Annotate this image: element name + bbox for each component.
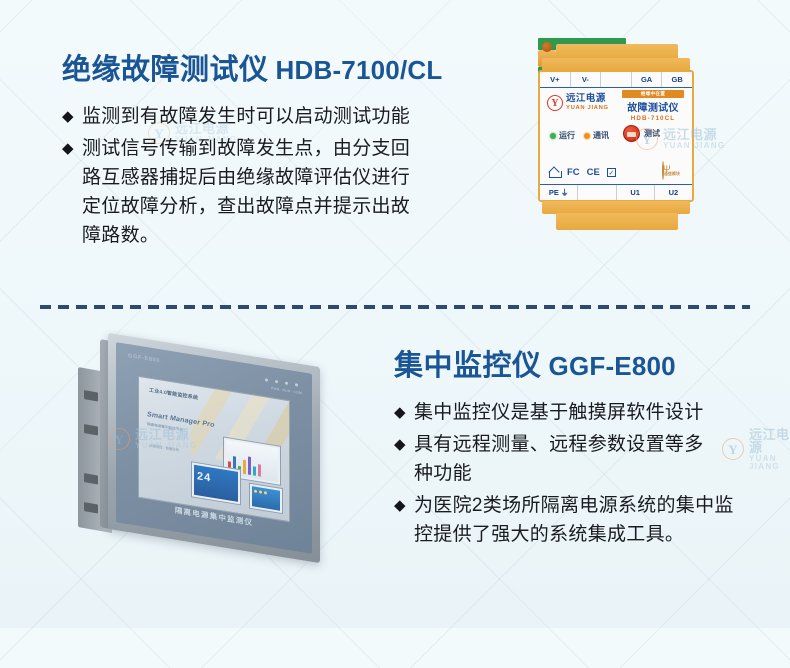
terminal-label-row-bottom: PE ⏚ U1 U2 xyxy=(540,184,692,200)
bullet-line: 具有远程测量、远程参数设置等多 xyxy=(414,430,704,459)
panel-port xyxy=(84,473,98,484)
test-button-label: 测试 xyxy=(644,128,660,139)
panel-lcd-screen[interactable]: 工业4.0智能监控系统 Smart Manager Pro 隔离电源集中监控平台… xyxy=(138,376,290,523)
brand-name-en: YUAN JIANG xyxy=(566,104,609,112)
bullet-line: 为医院2类场所隔离电源系统的集中监 xyxy=(414,491,734,520)
led-label: 运行 xyxy=(559,130,575,141)
terminal-label: GA xyxy=(632,72,663,87)
panel-led-labels: PWR RUN COM xyxy=(271,386,302,395)
section-central-monitor: 集中监控仪GGF-E800 ◆ 集中监控仪是基于触摸屏软件设计 ◆ 具有远程测量… xyxy=(394,342,774,552)
bullet-item: ◆ 监测到有故障发生时可以启动测试功能 xyxy=(62,102,492,131)
led-dot-icon xyxy=(275,380,278,383)
device-title-cn: 故障测试仪 xyxy=(622,99,684,114)
bullet-item: ◆ 具有远程测量、远程参数设置等多 种功能 xyxy=(394,430,774,488)
bullet-text: 监测到有故障发生时可以启动测试功能 xyxy=(82,102,410,131)
lcd-monitor-small xyxy=(249,483,283,515)
device-model-number: HDB-710CL xyxy=(622,115,684,122)
bullet-line: 种功能 xyxy=(414,459,704,488)
bullet-line: 集中监控仪是基于触摸屏软件设计 xyxy=(414,398,704,427)
brand-y-logo-icon xyxy=(547,95,563,111)
panel-model-label: GGF-E800 xyxy=(128,353,160,364)
device-title-block: 绝缘中在置 故障测试仪 HDB-710CL xyxy=(622,90,684,122)
push-button-icon[interactable] xyxy=(623,125,640,142)
panel-status-leds xyxy=(265,378,298,386)
brand-name-cn: 远江电源 xyxy=(566,94,609,104)
certification-marks: FC CE xyxy=(549,167,616,178)
bullet-line: 监测到有故障发生时可以启动测试功能 xyxy=(82,102,410,131)
product-feature-page: 绝缘故障测试仪HDB-7100/CL ◆ 监测到有故障发生时可以启动测试功能 ◆… xyxy=(0,0,790,628)
lcd-note: 远程测控 · 数据分析 xyxy=(149,442,179,452)
home-icon xyxy=(549,168,560,177)
led-dot-icon xyxy=(265,378,268,381)
section-1-bullet-list: ◆ 监测到有故障发生时可以启动测试功能 ◆ 测试信号传输到故障发生点，由分支回 … xyxy=(62,102,492,250)
bullet-line: 定位故障分析，查出故障点并提示出故 xyxy=(82,192,410,221)
check-box-icon xyxy=(607,168,616,177)
monitor-value: 24 xyxy=(197,470,211,484)
device-image-central-monitor: GGF-E800 PWR RUN COM 工业4.0智能监控系统 Smart M… xyxy=(78,342,348,572)
section-2-heading-model: GGF-E800 xyxy=(549,351,676,381)
antenna-icon xyxy=(662,161,664,180)
bullet-line: 路互感器捕捉后由绝缘故障评估仪进行 xyxy=(82,163,410,192)
bullet-item: ◆ 测试信号传输到故障发生点，由分支回 路互感器捕捉后由绝缘故障评估仪进行 定位… xyxy=(62,134,492,250)
monitor-bar xyxy=(243,460,246,474)
terminal-label: GB xyxy=(662,72,692,87)
section-1-heading-model: HDB-7100/CL xyxy=(276,55,443,85)
led-run: 运行 xyxy=(550,130,575,141)
bullet-text: 集中监控仪是基于触摸屏软件设计 xyxy=(414,398,704,427)
led-dot-icon xyxy=(550,133,556,139)
terminal-label: V+ xyxy=(540,72,571,87)
terminal-label: V- xyxy=(571,72,602,87)
led-dot-icon xyxy=(295,383,298,386)
led-label: 通讯 xyxy=(593,130,609,141)
led-label: RUN xyxy=(283,388,291,393)
fcc-mark-label: FC xyxy=(567,167,580,178)
bullet-item: ◆ 集中监控仪是基于触摸屏软件设计 xyxy=(394,398,774,427)
device-image-insulation-fault-tester: V+ V- GA GB 远江电源 YUAN JIANG 绝缘中在置 故障测试仪 … xyxy=(538,38,738,258)
section-2-heading-cn: 集中监控仪 xyxy=(394,350,542,382)
bullet-text: 具有远程测量、远程参数设置等多 种功能 xyxy=(414,430,704,488)
diamond-bullet-icon: ◆ xyxy=(394,398,413,427)
panel-face: GGF-E800 PWR RUN COM 工业4.0智能监控系统 Smart M… xyxy=(116,342,312,554)
terminal-label xyxy=(578,185,616,200)
lcd-subtitle: 隔离电源集中监控平台 xyxy=(147,422,183,433)
diamond-bullet-icon: ◆ xyxy=(62,134,81,163)
section-insulation-fault-tester: 绝缘故障测试仪HDB-7100/CL ◆ 监测到有故障发生时可以启动测试功能 ◆… xyxy=(62,46,492,253)
bullet-line: 控提供了强大的系统集成工具。 xyxy=(414,520,734,549)
terminal-label: U1 xyxy=(617,185,655,200)
led-dot-icon xyxy=(584,133,590,139)
terminal-label: U2 xyxy=(655,185,692,200)
lcd-monitor-medium: 24 xyxy=(191,461,241,505)
led-comm: 通讯 xyxy=(584,130,609,141)
section-1-heading-cn: 绝缘故障测试仪 xyxy=(62,54,269,86)
diamond-bullet-icon: ◆ xyxy=(394,491,413,520)
section-2-bullet-list: ◆ 集中监控仪是基于触摸屏软件设计 ◆ 具有远程测量、远程参数设置等多 种功能 … xyxy=(394,398,774,549)
dashed-section-divider xyxy=(40,305,750,309)
monitor-bar xyxy=(253,466,256,475)
terminal-label-row-top: V+ V- GA GB xyxy=(540,72,692,88)
led-label: PWR xyxy=(271,386,280,391)
bullet-line: 测试信号传输到故障发生点，由分支回 xyxy=(82,134,410,163)
bullet-item: ◆ 为医院2类场所隔离电源系统的集中监 控提供了强大的系统集成工具。 xyxy=(394,491,774,549)
monitor-bar xyxy=(258,464,261,476)
device-title-tag: 绝缘中在置 xyxy=(622,90,684,98)
panel-front-bezel: GGF-E800 PWR RUN COM 工业4.0智能监控系统 Smart M… xyxy=(108,333,320,563)
device-indicator-leds: 运行 通讯 xyxy=(550,130,609,141)
monitor-bar xyxy=(248,457,251,475)
bullet-line: 障路数。 xyxy=(82,221,410,250)
terminal-label: PE ⏚ xyxy=(540,185,578,200)
test-push-button[interactable]: 测试 xyxy=(623,125,660,142)
section-2-heading: 集中监控仪GGF-E800 xyxy=(394,342,774,384)
bullet-text: 测试信号传输到故障发生点，由分支回 路互感器捕捉后由绝缘故障评估仪进行 定位故障… xyxy=(82,134,410,250)
panel-port xyxy=(84,424,98,435)
led-dot-icon xyxy=(285,381,288,384)
terminal-label xyxy=(601,72,632,87)
led-label: COM xyxy=(293,390,302,395)
bullet-text: 为医院2类场所隔离电源系统的集中监 控提供了强大的系统集成工具。 xyxy=(414,491,734,549)
din-rail-bottom-wing xyxy=(556,213,678,230)
diamond-bullet-icon: ◆ xyxy=(394,430,413,459)
wireless-module-mark: 通信模块 xyxy=(657,162,685,180)
panel-port xyxy=(84,502,98,513)
panel-port xyxy=(84,390,98,401)
device-brand-logo: 远江电源 YUAN JIANG xyxy=(547,94,609,112)
device-faceplate: V+ V- GA GB 远江电源 YUAN JIANG 绝缘中在置 故障测试仪 … xyxy=(538,70,694,202)
section-1-heading: 绝缘故障测试仪HDB-7100/CL xyxy=(62,46,492,88)
diamond-bullet-icon: ◆ xyxy=(62,102,81,131)
ce-mark-label: CE xyxy=(587,167,600,178)
